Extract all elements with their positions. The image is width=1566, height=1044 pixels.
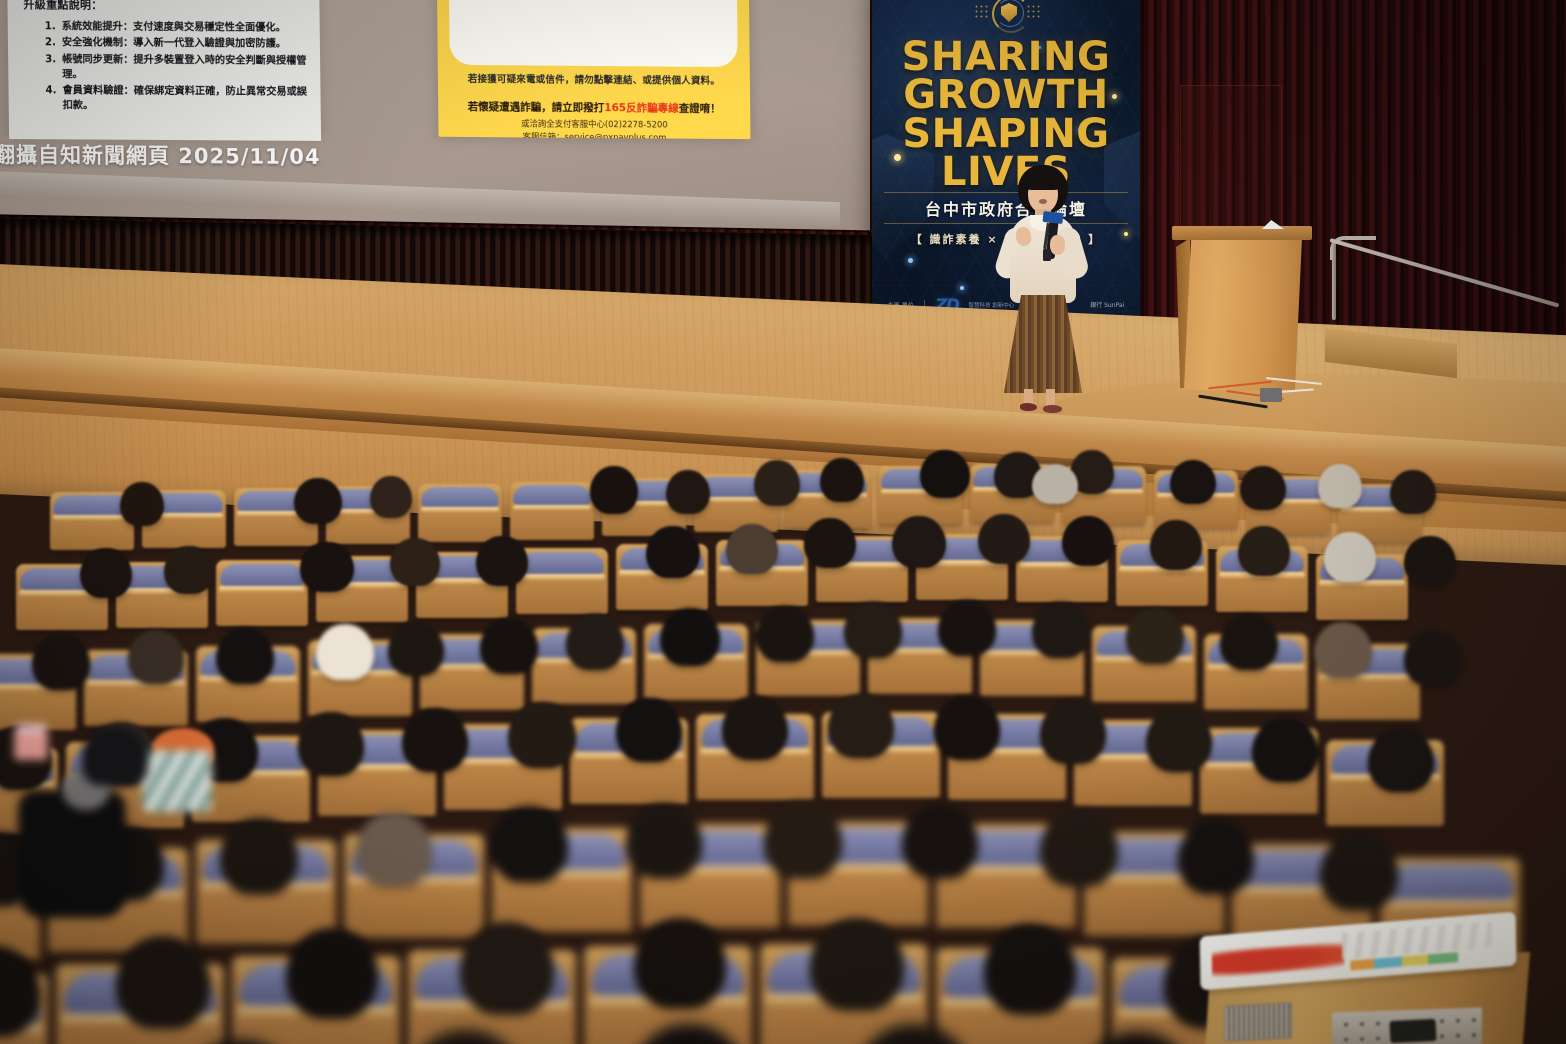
av-control-console bbox=[1204, 930, 1546, 1044]
backpack bbox=[18, 790, 126, 918]
audience-head bbox=[1178, 820, 1254, 894]
audience-head bbox=[164, 546, 214, 594]
microphone-flag bbox=[1042, 211, 1063, 224]
lectern-top-surface bbox=[1172, 226, 1312, 240]
list-text: 安全強化機制：導入新一代登入驗證與加密防護。 bbox=[62, 36, 310, 53]
audience-head bbox=[934, 696, 1000, 760]
list-number: 4. bbox=[38, 83, 56, 114]
poster-warning-line: 若接獲可疑來電或信件，請勿點擊連結、或提供個人資料。 bbox=[454, 71, 734, 87]
hotline-prefix: 若懷疑遭遇詐騙，請立即撥打 bbox=[468, 101, 605, 114]
audience-head bbox=[370, 476, 412, 518]
list-number: 3. bbox=[38, 52, 56, 83]
audience-head bbox=[460, 922, 554, 1014]
audience-head bbox=[920, 450, 970, 498]
hotline-suffix: 查證唷！ bbox=[679, 103, 721, 115]
audience-head bbox=[300, 542, 354, 592]
lectern-front-panel bbox=[1184, 238, 1302, 390]
audience-head bbox=[804, 518, 856, 568]
poster-service-center: 或洽詢全支付客服中心(02)2278-5200 bbox=[448, 117, 740, 131]
audience-head bbox=[626, 804, 702, 878]
presenter-right-hand bbox=[1050, 235, 1065, 255]
audience-head bbox=[666, 470, 710, 514]
audience-head bbox=[726, 524, 778, 574]
audience-head bbox=[220, 818, 298, 894]
presenter-fringe bbox=[1021, 170, 1065, 190]
audience-head bbox=[764, 802, 842, 878]
audience-head bbox=[828, 694, 894, 758]
audience-head bbox=[756, 606, 814, 662]
banner-title-line-3: SHAPING bbox=[872, 115, 1140, 153]
audience-seating bbox=[0, 430, 1566, 1044]
audience-head bbox=[1368, 728, 1434, 792]
audience-head bbox=[1252, 718, 1318, 782]
audience-head bbox=[1040, 810, 1118, 886]
audience-head bbox=[80, 548, 132, 598]
stage-handrail bbox=[1330, 238, 1554, 370]
slide-heading: 升級重點說明： bbox=[23, 0, 307, 14]
slide-list-item: 4. 會員資料驗證：確保綁定資料正確，防止異常交易或誤扣款。 bbox=[38, 83, 310, 115]
mic-cable bbox=[1198, 395, 1268, 409]
presenter-right-shoe bbox=[1043, 405, 1062, 413]
slide-list: 1. 系統效能提升：支付速度與交易穩定性全面優化。 2. 安全強化機制：導入新一… bbox=[38, 19, 311, 116]
audience-head bbox=[1314, 622, 1372, 678]
audience-head bbox=[590, 466, 638, 514]
slide-list-item: 1. 系統效能提升：支付速度與交易穩定性全面優化。 bbox=[38, 19, 310, 36]
audience-head bbox=[1170, 460, 1216, 504]
console-vent bbox=[1224, 1002, 1292, 1042]
handrail-post bbox=[1332, 240, 1336, 320]
audience-head bbox=[902, 804, 978, 878]
audience-head bbox=[116, 936, 210, 1028]
shield-logo bbox=[976, 0, 1036, 32]
audience-head bbox=[286, 928, 378, 1018]
audience-head bbox=[754, 460, 800, 506]
audience-head bbox=[390, 538, 440, 586]
audience-head bbox=[1240, 466, 1286, 510]
cable-connector-box bbox=[1260, 388, 1282, 402]
audience-head bbox=[978, 514, 1030, 564]
audience-head bbox=[1220, 614, 1278, 670]
list-text: 系統效能提升：支付速度與交易穩定性全面優化。 bbox=[62, 19, 310, 36]
handrail-bar bbox=[1329, 238, 1559, 307]
audience-head bbox=[1404, 630, 1462, 686]
banner-title-line-1: SHARING bbox=[872, 38, 1140, 76]
sponsor-right-logo: 銀行 SunPai bbox=[1090, 302, 1124, 309]
audience-head bbox=[480, 618, 538, 674]
audience-head bbox=[660, 608, 720, 666]
presenter-left-shoe bbox=[1020, 403, 1037, 411]
audience-head bbox=[1390, 470, 1436, 514]
audience-head bbox=[984, 924, 1076, 1014]
audience-head bbox=[1032, 464, 1078, 504]
slide-text-panel: 宣傳活動需約 3~5 分鐘，完成後即可恢復完整功能並 享有最新版本的安全防護。 … bbox=[7, 0, 321, 141]
poster-red-graphic bbox=[1212, 939, 1345, 979]
audience-head bbox=[216, 628, 274, 684]
audience-head bbox=[128, 630, 184, 684]
banner-title-line-2: GROWTH bbox=[872, 76, 1140, 114]
audience-head bbox=[1238, 526, 1290, 576]
audience-head bbox=[1320, 834, 1398, 910]
presenter-mouth bbox=[1039, 199, 1047, 204]
audience-head bbox=[356, 812, 432, 886]
audience-head bbox=[1150, 520, 1202, 570]
slide-list-item: 2. 安全強化機制：導入新一代登入驗證與加密防護。 bbox=[38, 36, 310, 53]
audience-head bbox=[1032, 602, 1090, 658]
audience-head bbox=[634, 918, 726, 1008]
audience-head bbox=[402, 708, 468, 772]
list-number: 1. bbox=[38, 19, 56, 34]
slide-source-caption: 翻攝自知新聞網頁 2025/11/04 bbox=[0, 139, 324, 171]
audience-head bbox=[1040, 700, 1106, 764]
audience-head bbox=[810, 918, 904, 1010]
logo-dot-matrix-right bbox=[1026, 4, 1042, 18]
logo-dot-matrix-left bbox=[974, 4, 990, 18]
audience-head bbox=[820, 458, 864, 502]
audience-head bbox=[298, 712, 364, 776]
audience-head bbox=[1146, 708, 1212, 772]
auditorium-photo: 宣傳活動需約 3~5 分鐘，完成後即可恢復完整功能並 享有最新版本的安全防護。 … bbox=[0, 0, 1566, 1044]
list-text: 帳號同步更新：提升多裝置登入時的安全判斷與授權管理。 bbox=[62, 52, 310, 84]
audience-head bbox=[616, 698, 682, 762]
audience-head bbox=[1324, 532, 1376, 582]
presenter-badge bbox=[1043, 249, 1051, 261]
floor-cables bbox=[1208, 378, 1328, 408]
audience-head bbox=[938, 600, 996, 656]
audience-head bbox=[566, 614, 624, 670]
poster-white-card bbox=[448, 0, 738, 67]
lectern bbox=[1176, 226, 1308, 392]
poster-white-graphic bbox=[1342, 921, 1492, 959]
audience-head bbox=[490, 806, 568, 882]
hotline-number: 165反詐騙專線 bbox=[604, 102, 679, 115]
presenter bbox=[990, 165, 1095, 420]
audience-head bbox=[32, 634, 90, 690]
audience-head bbox=[476, 536, 528, 586]
console-equipment bbox=[1389, 1019, 1436, 1043]
audience-head bbox=[316, 624, 374, 680]
presenter-skirt bbox=[1004, 295, 1082, 393]
striped-bag bbox=[142, 750, 212, 812]
audience-head bbox=[1126, 608, 1184, 664]
list-text: 會員資料驗證：確保綁定資料正確，防止異常交易或誤扣款。 bbox=[62, 84, 310, 116]
audience-head bbox=[294, 478, 342, 524]
audience-head bbox=[646, 526, 700, 578]
audience-head bbox=[892, 516, 946, 568]
audience-head bbox=[1318, 464, 1362, 508]
audience-head bbox=[1062, 516, 1114, 566]
audience-head bbox=[388, 622, 444, 676]
slide-yellow-poster: 若接獲可疑來電或信件，請勿點擊連結、或提供個人資料。 若懷疑遭遇詐騙，請立即撥打… bbox=[436, 0, 751, 139]
audience-head bbox=[844, 602, 902, 658]
audience-head bbox=[508, 702, 576, 768]
list-number: 2. bbox=[38, 36, 56, 51]
audience-head bbox=[120, 482, 164, 526]
audience-head bbox=[1404, 536, 1456, 586]
audience-head bbox=[722, 696, 788, 760]
dark-coat bbox=[82, 726, 148, 786]
slide-list-item: 3. 帳號同步更新：提升多裝置登入時的安全判斷與授權管理。 bbox=[38, 52, 310, 84]
poster-hotline-line: 若懷疑遭遇詐騙，請立即撥打165反詐騙專線查證唷！ bbox=[448, 99, 740, 116]
